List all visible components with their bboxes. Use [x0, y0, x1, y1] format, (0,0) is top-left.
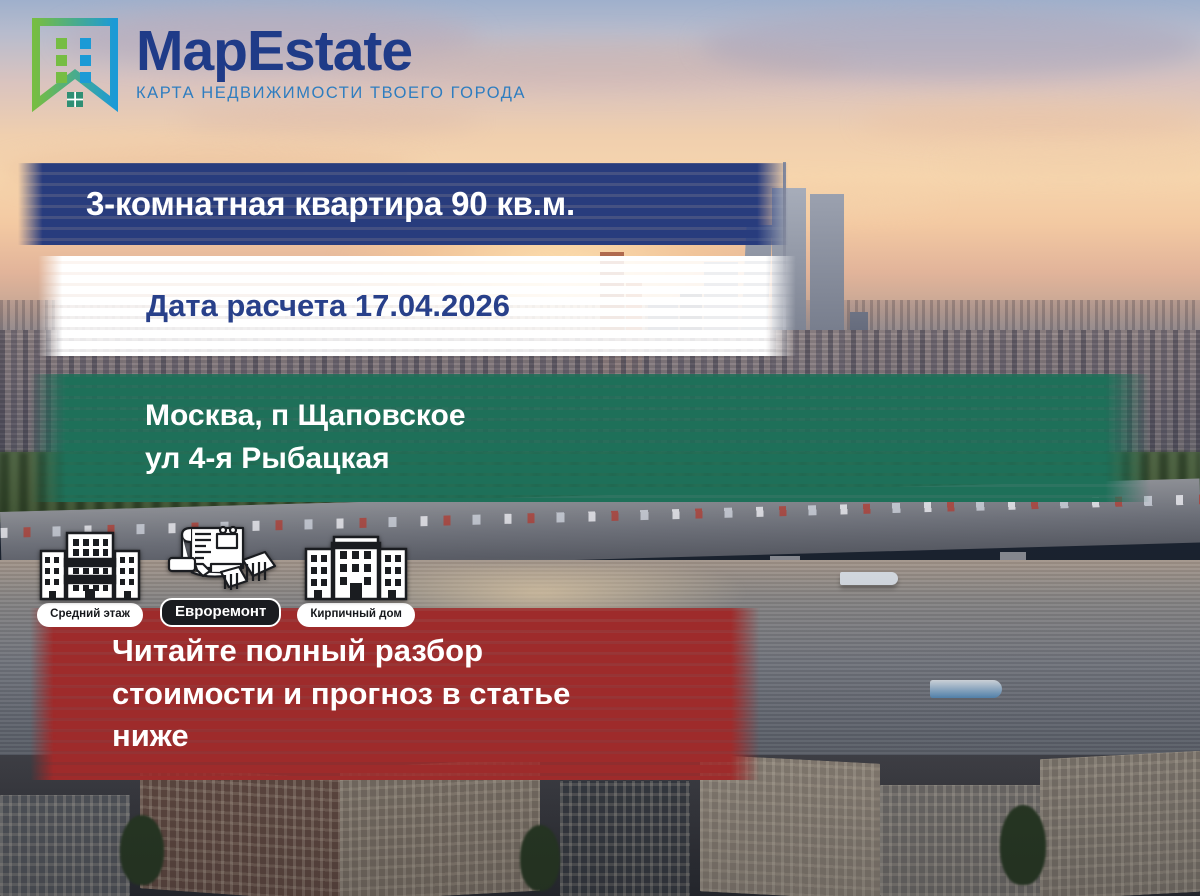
logo-tagline: КАРТА НЕДВИЖИМОСТИ ТВОЕГО ГОРОДА — [136, 84, 526, 103]
mapestate-logo[interactable]: MapEstate КАРТА НЕДВИЖИМОСТИ ТВОЕГО ГОРО… — [32, 18, 526, 113]
call-to-action-text: Читайте полный разбор стоимости и прогно… — [30, 630, 760, 758]
address-line-2: ул 4-я Рыбацкая — [145, 438, 1150, 481]
address-banner: Москва, п Щаповское ул 4-я Рыбацкая — [30, 374, 1150, 502]
address-line-1: Москва, п Щаповское — [145, 395, 1150, 438]
property-title-text: 3-комнатная квартира 90 кв.м. — [18, 185, 788, 223]
call-to-action-banner: Читайте полный разбор стоимости и прогно… — [30, 608, 760, 780]
apartment-building-icon — [36, 527, 144, 610]
badge-euro-renovation[interactable]: Евроремонт — [160, 520, 281, 627]
address-text: Москва, п Щаповское ул 4-я Рыбацкая — [30, 395, 1150, 480]
brick-building-icon — [302, 527, 410, 610]
renovation-tools-icon — [161, 520, 281, 605]
badge-middle-floor[interactable]: Средний этаж — [36, 527, 144, 627]
property-title-banner: 3-комнатная квартира 90 кв.м. — [18, 163, 788, 245]
cta-line-3: ниже — [112, 715, 760, 758]
cta-line-1: Читайте полный разбор — [112, 630, 760, 673]
property-feature-badges: Средний этаж — [36, 520, 415, 627]
badge-brick-house[interactable]: Кирпичный дом — [297, 527, 415, 627]
logo-brand-text: MapEstate — [136, 24, 526, 78]
mapestate-bookmark-building-logo-icon — [32, 18, 118, 113]
calculation-date-banner: Дата расчета 17.04.2026 — [38, 256, 796, 356]
calculation-date-text: Дата расчета 17.04.2026 — [38, 288, 796, 324]
cta-line-2: стоимости и прогноз в статье — [112, 673, 760, 716]
